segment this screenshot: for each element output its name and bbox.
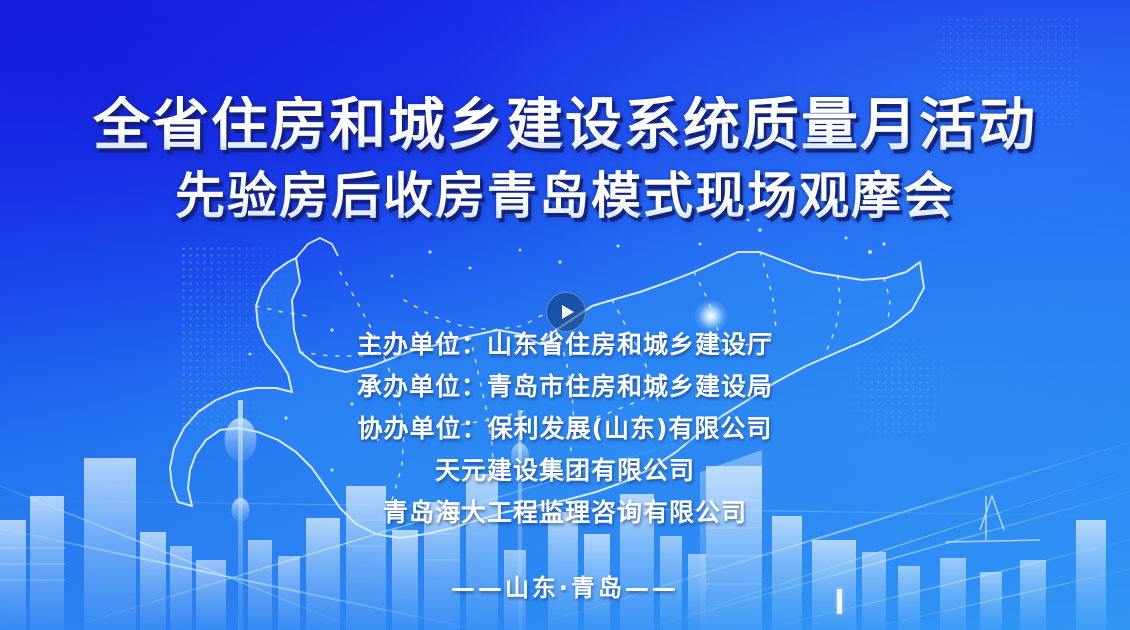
location-footer: ——山东·青岛—— [0,568,1130,603]
video-poster-frame: 全省住房和城乡建设系统质量月活动 先验房后收房青岛模式现场观摩会 主办单位：山东… [0,0,1130,630]
credit-line-partner-2: 青岛海大工程监理咨询有限公司 [0,500,1130,525]
credit-line-host: 主办单位：山东省住房和城乡建设厅 [0,332,1130,357]
credit-line-coorganizer: 协办单位：保利发展(山东)有限公司 [0,416,1130,441]
play-triangle-icon [562,305,574,319]
qingdao-city-marker [694,299,728,333]
poster-title-block: 全省住房和城乡建设系统质量月活动 先验房后收房青岛模式现场观摩会 [0,96,1130,224]
credit-line-organizer: 承办单位：青岛市住房和城乡建设局 [0,374,1130,399]
credit-line-partner-1: 天元建设集团有限公司 [0,458,1130,483]
page-title-line-1: 全省住房和城乡建设系统质量月活动 [0,96,1130,156]
play-button[interactable] [546,292,586,332]
page-title-line-2: 先验房后收房青岛模式现场观摩会 [0,168,1130,224]
text-caret-mark [837,589,842,614]
organizer-credits: 主办单位：山东省住房和城乡建设厅 承办单位：青岛市住房和城乡建设局 协办单位：保… [0,332,1130,542]
